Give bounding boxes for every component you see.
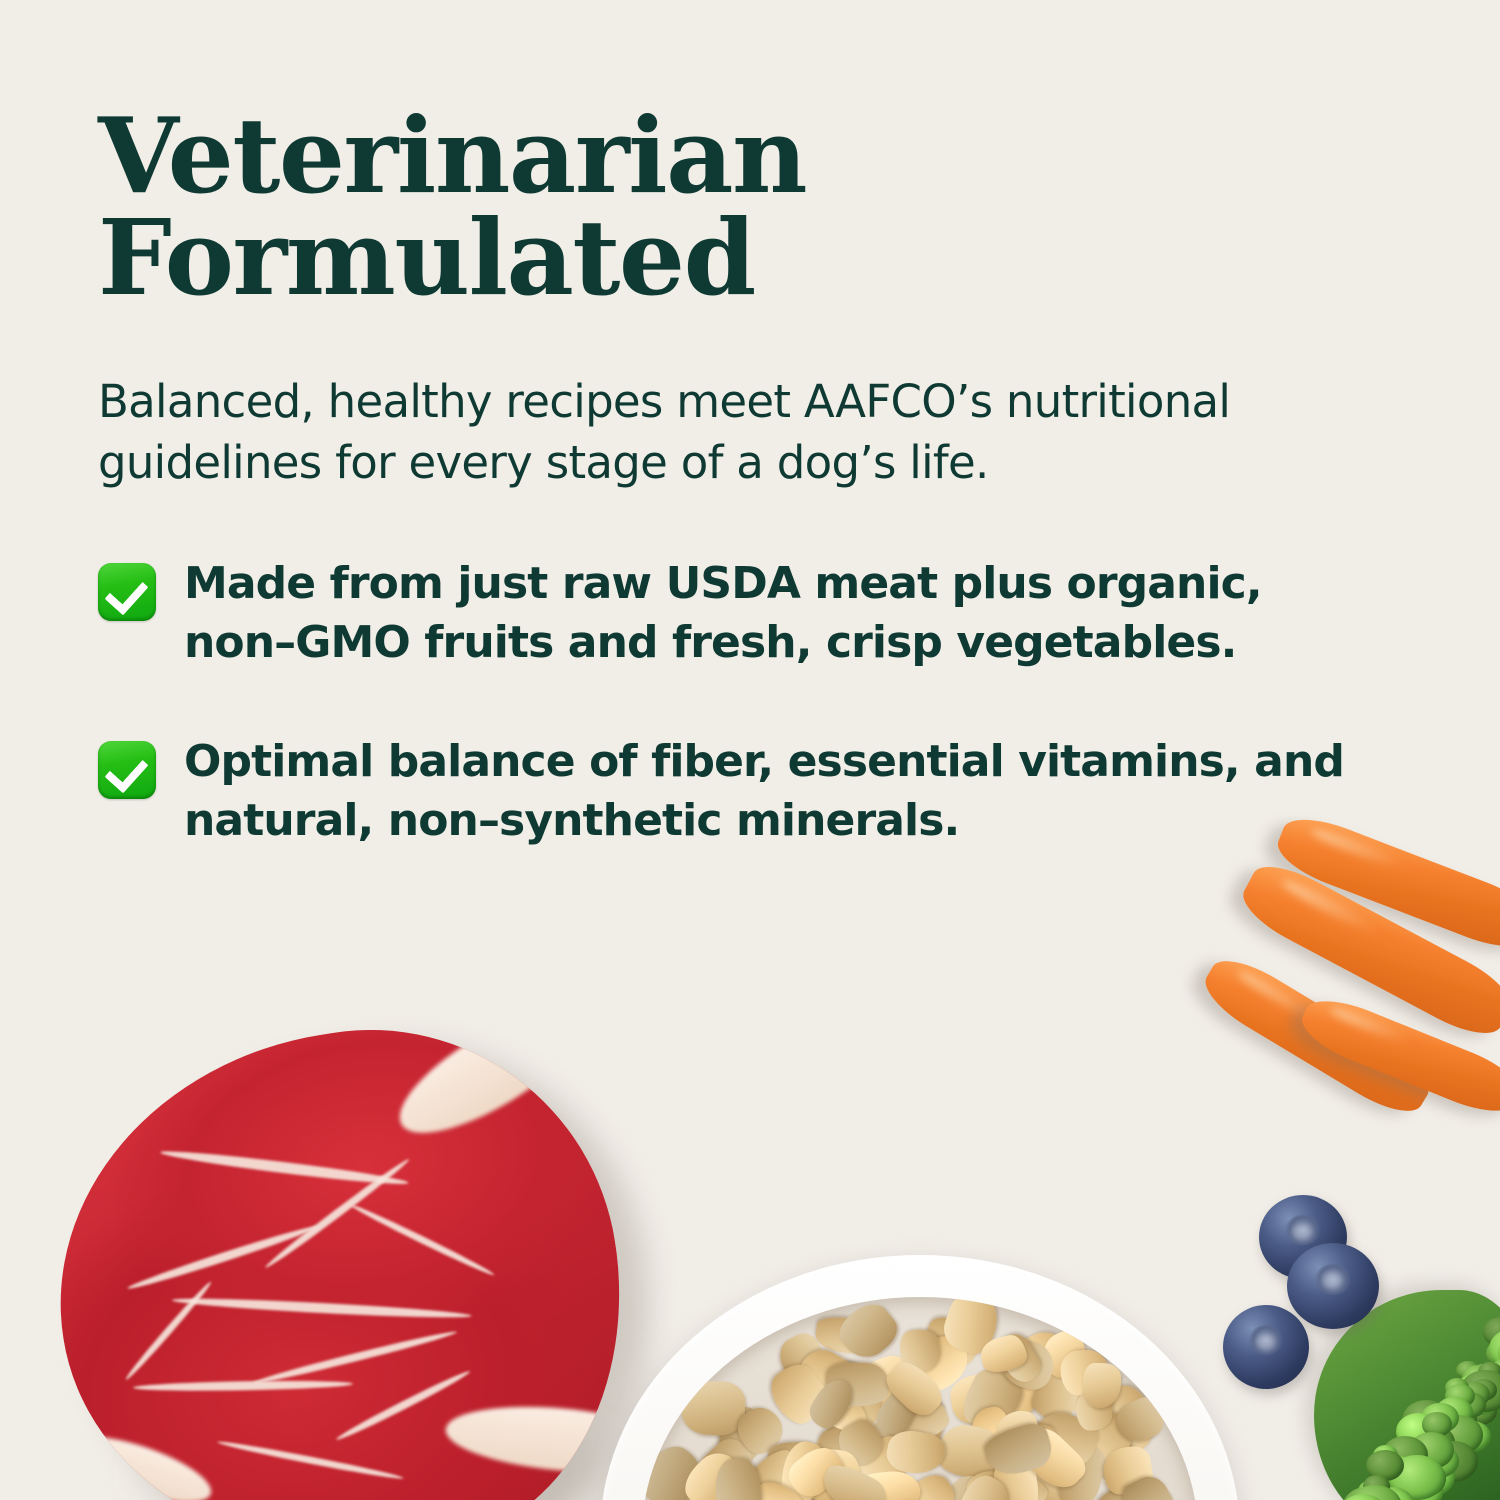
list-item: Optimal balance of fiber, essential vita… (98, 733, 1458, 851)
intro-paragraph: Balanced, healthy recipes meet AAFCO’s n… (98, 371, 1448, 493)
steak-body (23, 994, 657, 1500)
list-item-label: Optimal balance of fiber, essential vita… (184, 733, 1364, 851)
page-title: Veterinarian Formulated (98, 105, 1458, 309)
copy-block: Veterinarian Formulated Balanced, health… (98, 105, 1458, 911)
check-mark-icon (98, 741, 156, 799)
promo-banner: Veterinarian Formulated Balanced, health… (0, 0, 1500, 1500)
raw-steak-image (60, 1035, 620, 1500)
check-mark-icon (98, 563, 156, 621)
list-item: Made from just raw USDA meat plus organi… (98, 555, 1458, 673)
blueberries-image (1215, 1195, 1405, 1395)
blueberry (1287, 1243, 1379, 1329)
kibble-bowl-image (600, 1255, 1240, 1500)
blueberry (1223, 1305, 1309, 1389)
list-item-label: Made from just raw USDA meat plus organi… (184, 555, 1364, 673)
benefit-list: Made from just raw USDA meat plus organi… (98, 555, 1458, 851)
